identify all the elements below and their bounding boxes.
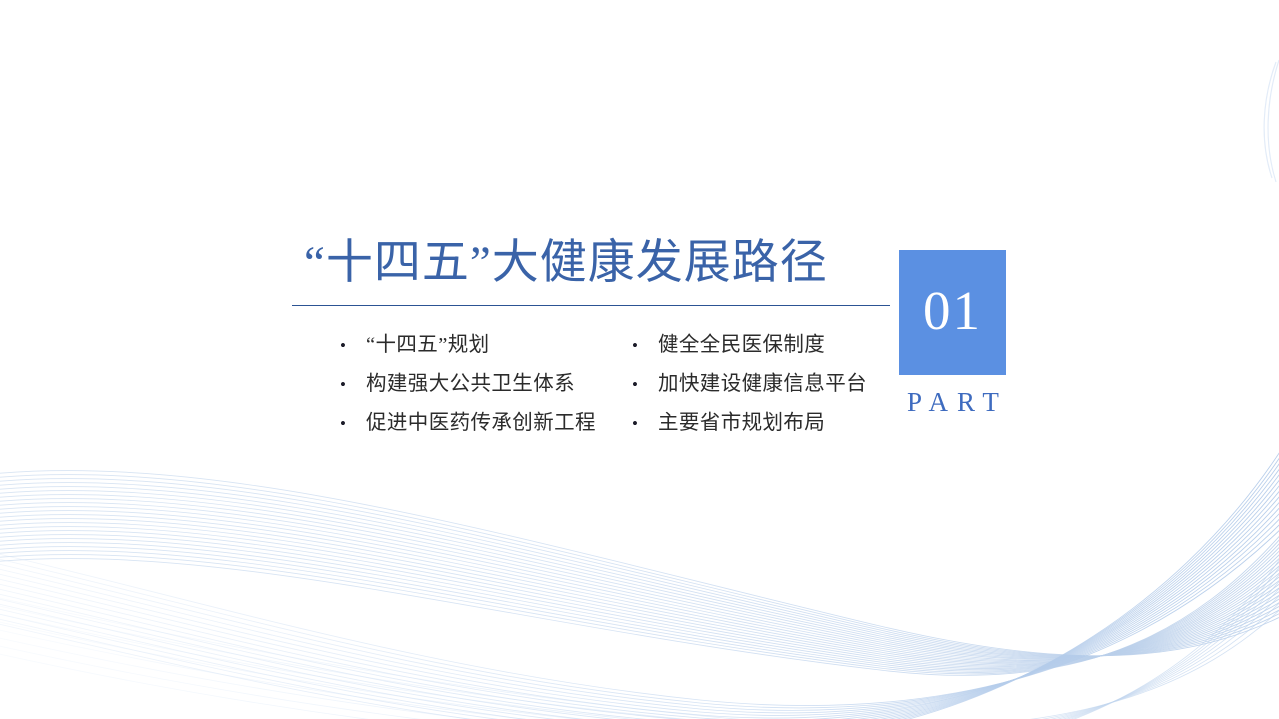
- list-item-label: 主要省市规划布局: [650, 408, 825, 439]
- bullet-dot-icon: •: [632, 330, 650, 361]
- list-item[interactable]: • 加快建设健康信息平台: [632, 369, 932, 408]
- part-label: PART: [899, 375, 1006, 417]
- list-item[interactable]: • 构建强大公共卫生体系: [340, 369, 632, 408]
- title-divider: [292, 305, 890, 306]
- bullet-dot-icon: •: [340, 408, 358, 439]
- list-item[interactable]: • 促进中医药传承创新工程: [340, 408, 632, 447]
- part-number-tile: 01: [899, 250, 1006, 375]
- list-item[interactable]: • “十四五”规划: [340, 330, 632, 369]
- agenda-column-left: • “十四五”规划 • 构建强大公共卫生体系 • 促进中医药传承创新工程: [340, 330, 632, 447]
- list-item[interactable]: • 健全全民医保制度: [632, 330, 932, 369]
- presentation-slide: “十四五”大健康发展路径 • “十四五”规划 • 构建强大公共卫生体系 • 促进…: [0, 0, 1279, 719]
- list-item-label: 构建强大公共卫生体系: [358, 369, 575, 400]
- list-item-label: 加快建设健康信息平台: [650, 369, 867, 400]
- list-item-label: 健全全民医保制度: [650, 330, 825, 361]
- agenda-column-right: • 健全全民医保制度 • 加快建设健康信息平台 • 主要省市规划布局: [632, 330, 932, 447]
- bullet-dot-icon: •: [340, 369, 358, 400]
- list-item-label: “十四五”规划: [358, 330, 490, 361]
- page-title: “十四五”大健康发展路径: [292, 232, 892, 294]
- bullet-dot-icon: •: [632, 369, 650, 400]
- part-badge: 01 PART: [899, 250, 1006, 417]
- bullet-dot-icon: •: [340, 330, 358, 361]
- list-item[interactable]: • 主要省市规划布局: [632, 408, 932, 447]
- agenda-list: • “十四五”规划 • 构建强大公共卫生体系 • 促进中医药传承创新工程 • 健…: [340, 330, 932, 447]
- part-number: 01: [923, 283, 982, 342]
- list-item-label: 促进中医药传承创新工程: [358, 408, 596, 439]
- title-block: “十四五”大健康发展路径: [292, 232, 892, 306]
- bullet-dot-icon: •: [632, 408, 650, 439]
